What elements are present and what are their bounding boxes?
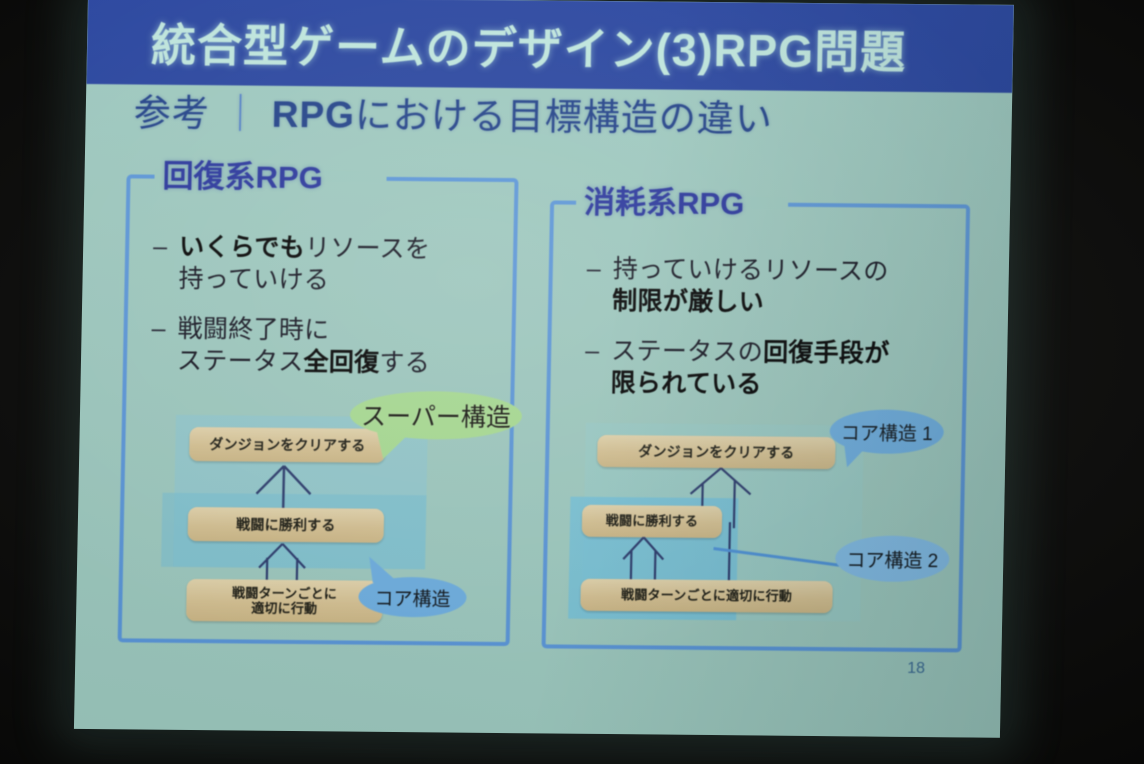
- subtitle-rpg: RPG: [271, 94, 355, 136]
- left-arrow-mid-to-top: [228, 463, 339, 510]
- left-goal-box-turn-line2: 適切に行動: [251, 601, 317, 617]
- left-goal-box-dungeon: ダンジョンをクリアする: [189, 427, 386, 463]
- left-callout-super-label: スーパー構造: [361, 397, 511, 434]
- slide-subtitle: 参考｜RPGにおける目標構造の違い: [133, 82, 773, 142]
- left-callout-super-structure: スーパー構造: [350, 391, 523, 441]
- page-number: 18: [907, 660, 925, 678]
- projected-slide: 統合型ゲームのデザイン(3)RPG問題 参考｜RPGにおける目標構造の違い 回復…: [74, 0, 1014, 738]
- right-callout-core-1: コア構造 1: [829, 409, 944, 454]
- left-panel: 回復系RPG – いくらでもリソースを 持っていける – 戦闘終了時に: [118, 174, 519, 646]
- bullet-text: ステータスの回復手段が 限られている: [610, 335, 890, 402]
- subtitle-lead: 参考: [133, 92, 210, 134]
- right-goal-box-battle: 戦闘に勝利する: [582, 505, 723, 538]
- right-bullet-2-emphasis-b: 限られている: [610, 369, 762, 398]
- right-bullet-1-emphasis: 制限が厳しい: [612, 287, 764, 316]
- bullet-1-emphasis: いくらでも: [179, 233, 305, 262]
- bullet-1-line2: 持っていける: [178, 265, 329, 294]
- bullet-1-line1-rest: リソースを: [305, 234, 431, 263]
- left-bullet-1: – いくらでもリソースを 持っていける: [152, 231, 503, 298]
- bullet-2-emphasis: 全回復: [303, 348, 379, 377]
- bullet-dash: –: [151, 313, 178, 377]
- left-bullet-2: – 戦闘終了時に ステータス全回復する: [151, 313, 502, 380]
- right-panel-title: 消耗系RPG: [584, 177, 745, 224]
- right-bullet-1-line1: 持っていけるリソースの: [613, 255, 889, 286]
- screenshot-root: 統合型ゲームのデザイン(3)RPG問題 参考｜RPGにおける目標構造の違い 回復…: [0, 0, 1144, 764]
- bullet-2-line2-pre: ステータス: [177, 347, 304, 376]
- left-panel-title: 回復系RPG: [162, 151, 323, 198]
- left-goal-structure-diagram: ダンジョンをクリアする 戦闘に勝利する 戦闘ターンごとに 適切に行動: [134, 410, 498, 633]
- bullet-text: 戦闘終了時に ステータス全回復する: [177, 313, 431, 379]
- bullet-2-line1: 戦闘終了時に: [177, 315, 329, 344]
- right-bullet-1: – 持っていけるリソースの 制限が厳しい: [586, 253, 957, 321]
- right-goal-structure-diagram: ダンジョンをクリアする 戦闘に勝利する 戦闘ターンごとに適切に行動: [552, 413, 956, 637]
- right-callout-core-1-label: コア構造 1: [841, 418, 933, 446]
- right-bullet-2: – ステータスの回復手段が 限られている: [584, 335, 955, 403]
- bullet-dash: –: [584, 335, 611, 399]
- right-goal-box-dungeon: ダンジョンをクリアする: [597, 435, 836, 469]
- subtitle-divider: ｜: [221, 83, 260, 137]
- bullet-dash: –: [152, 231, 179, 295]
- right-bullet-2-line1-pre: ステータスの: [611, 337, 763, 366]
- callout-tail-icon: [365, 557, 406, 585]
- right-panel: 消耗系RPG – 持っていけるリソースの 制限が厳しい – ステータスの回復手段…: [542, 200, 971, 652]
- right-arrow-bottom-to-top-stem: [721, 522, 738, 584]
- left-goal-box-turn-line1: 戦闘ターンごとに: [232, 585, 337, 601]
- right-bullet-2-emphasis-a: 回復手段が: [763, 338, 890, 367]
- slide-title: 統合型ゲームのデザイン(3)RPG問題: [150, 0, 1012, 97]
- right-arrow-bottom-to-mid: [605, 535, 686, 582]
- left-callout-core-label: コア構造: [374, 583, 451, 611]
- bullet-2-line2-post: する: [379, 349, 430, 377]
- left-goal-box-battle: 戦闘に勝利する: [188, 507, 385, 543]
- subtitle-rest: における目標構造の違い: [355, 95, 774, 140]
- left-bullet-list: – いくらでもリソースを 持っていける – 戦闘終了時に ステータス全回復する: [150, 231, 503, 393]
- bullet-text: 持っていけるリソースの 制限が厳しい: [612, 253, 889, 320]
- bullet-text: いくらでもリソースを 持っていける: [178, 231, 430, 297]
- right-bullet-list: – 持っていけるリソースの 制限が厳しい – ステータスの回復手段が 限られてい…: [584, 253, 957, 416]
- bullet-dash: –: [586, 253, 613, 317]
- right-callout-core-2-label: コア構造 2: [846, 545, 938, 573]
- left-goal-box-turn: 戦闘ターンごとに 適切に行動: [186, 579, 383, 623]
- right-goal-box-turn: 戦闘ターンごとに適切に行動: [580, 579, 833, 613]
